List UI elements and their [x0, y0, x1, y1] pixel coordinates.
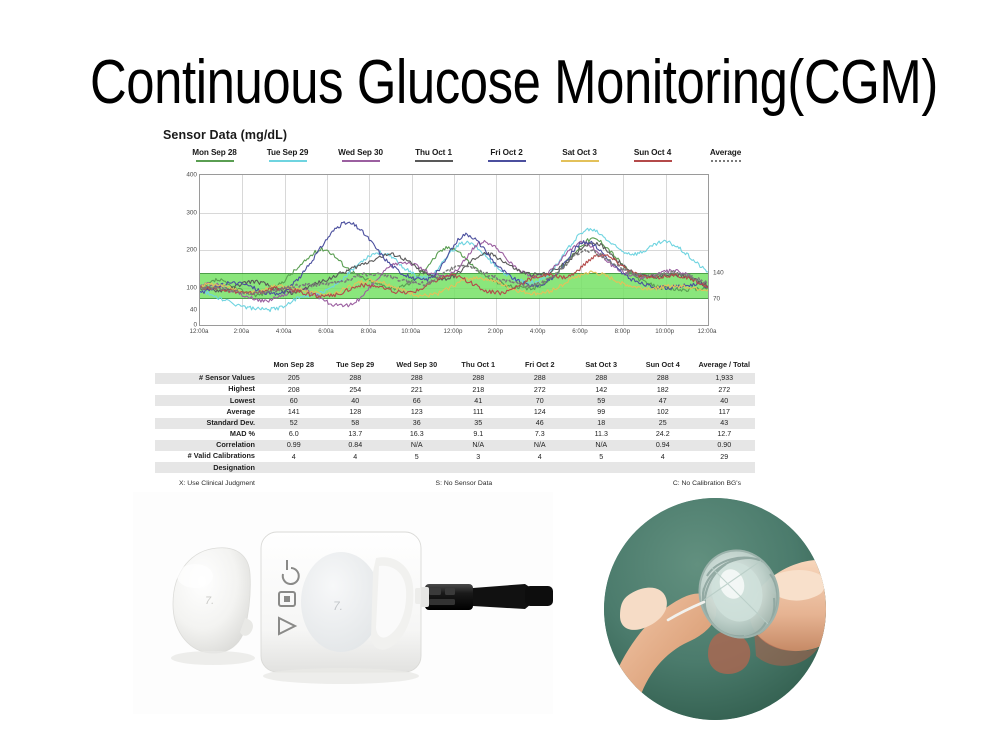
- stats-cell: 288: [386, 373, 448, 384]
- table-row: Standard Dev.5258363546182543: [155, 418, 755, 429]
- stats-cell: 59: [571, 395, 633, 406]
- x-axis-tick: 4:00a: [264, 328, 304, 335]
- stats-cell: 4: [509, 451, 571, 462]
- table-row: # Valid Calibrations445345429: [155, 451, 755, 462]
- stats-cell: 6.0: [263, 429, 325, 440]
- stats-column-header: Mon Sep 28: [263, 360, 325, 373]
- stats-cell: 4: [325, 451, 387, 462]
- stats-cell: [263, 462, 325, 473]
- stats-cell: N/A: [386, 440, 448, 451]
- stats-column-header: Sun Oct 4: [632, 360, 694, 373]
- stats-row-label: Correlation: [155, 440, 263, 451]
- stats-cell: 123: [386, 406, 448, 417]
- stats-cell: 12.7: [694, 429, 756, 440]
- legend-color-swatch: [415, 160, 453, 163]
- legend-item: Thu Oct 1: [404, 148, 463, 162]
- stats-cell: 272: [509, 384, 571, 395]
- stats-cell: 66: [386, 395, 448, 406]
- chart-series-line: [200, 222, 708, 296]
- legend-label: Thu Oct 1: [415, 148, 452, 157]
- stats-cell: [509, 462, 571, 473]
- legend-label: Sun Oct 4: [634, 148, 671, 157]
- stats-cell: 254: [325, 384, 387, 395]
- table-row: Average14112812311112499102117: [155, 406, 755, 417]
- stats-cell: 41: [448, 395, 510, 406]
- stats-cell: N/A: [571, 440, 633, 451]
- legend-label: Fri Oct 2: [490, 148, 522, 157]
- table-row: MAD %6.013.716.39.17.311.324.212.7: [155, 429, 755, 440]
- stats-cell: 36: [386, 418, 448, 429]
- stats-cell: 29: [694, 451, 756, 462]
- y-axis-tick: 300: [167, 209, 197, 216]
- legend-label: Wed Sep 30: [338, 148, 383, 157]
- stats-cell: 4: [263, 451, 325, 462]
- y-axis-tick: 40: [167, 307, 197, 314]
- svg-text:7.: 7.: [205, 595, 214, 607]
- y-axis-tick-right: 70: [713, 295, 743, 302]
- stats-cell: 58: [325, 418, 387, 429]
- table-row: Lowest6040664170594740: [155, 395, 755, 406]
- stats-cell: 205: [263, 373, 325, 384]
- stats-cell: [571, 462, 633, 473]
- glucose-sensor-photo: [604, 498, 826, 720]
- legend-label: Sat Oct 3: [562, 148, 597, 157]
- stats-column-header: Sat Oct 3: [571, 360, 633, 373]
- x-axis-tick: 12:00a: [687, 328, 727, 335]
- stats-cell: 7.3: [509, 429, 571, 440]
- stats-corner-cell: [155, 360, 263, 373]
- x-axis-tick: 12:00a: [179, 328, 219, 335]
- stats-cell: 128: [325, 406, 387, 417]
- stats-cell: 141: [263, 406, 325, 417]
- table-row: Designation: [155, 462, 755, 473]
- stats-cell: 111: [448, 406, 510, 417]
- footnote-no-sensor-data: S: No Sensor Data: [436, 480, 493, 487]
- stats-row-label: # Valid Calibrations: [155, 451, 263, 462]
- stats-cell: 40: [325, 395, 387, 406]
- stats-cell: 124: [509, 406, 571, 417]
- stats-row-label: Lowest: [155, 395, 263, 406]
- stats-cell: 218: [448, 384, 510, 395]
- legend-color-swatch: [342, 160, 380, 163]
- glucose-chart: 4003002001004001407012:00a2:00a4:00a6:00…: [155, 168, 755, 350]
- page-title: Continuous Glucose Monitoring(CGM): [90, 52, 910, 114]
- stats-cell: 5: [386, 451, 448, 462]
- stats-column-header: Tue Sep 29: [325, 360, 387, 373]
- legend-item: Fri Oct 2: [477, 148, 536, 162]
- x-axis-tick: 10:00a: [391, 328, 431, 335]
- stats-cell: 35: [448, 418, 510, 429]
- legend-item: Mon Sep 28: [185, 148, 244, 162]
- stats-cell: [325, 462, 387, 473]
- footnote-clinical-judgment: X: Use Clinical Judgment: [179, 480, 255, 487]
- report-heading: Sensor Data (mg/dL): [163, 128, 755, 142]
- stats-cell: [694, 462, 756, 473]
- legend-item: Sat Oct 3: [550, 148, 609, 162]
- sensor-in-fingers-illustration: [604, 498, 826, 720]
- stats-cell: 288: [448, 373, 510, 384]
- stats-cell: 288: [632, 373, 694, 384]
- stats-cell: 24.2: [632, 429, 694, 440]
- y-axis-tick: 100: [167, 284, 197, 291]
- x-axis-tick: 2:00a: [221, 328, 261, 335]
- stats-cell: 52: [263, 418, 325, 429]
- stats-cell: 70: [509, 395, 571, 406]
- stats-cell: N/A: [448, 440, 510, 451]
- stats-cell: 0.94: [632, 440, 694, 451]
- legend-color-swatch: [269, 160, 307, 163]
- stats-cell: 60: [263, 395, 325, 406]
- stats-cell: 13.7: [325, 429, 387, 440]
- stats-cell: [632, 462, 694, 473]
- stats-cell: 43: [694, 418, 756, 429]
- table-row: # Sensor Values2052882882882882882881,93…: [155, 373, 755, 384]
- stats-cell: 272: [694, 384, 756, 395]
- stats-cell: 0.84: [325, 440, 387, 451]
- y-axis-tick-right: 140: [713, 269, 743, 276]
- stats-cell: 4: [632, 451, 694, 462]
- stats-row-label: Highest: [155, 384, 263, 395]
- stats-table-head: Mon Sep 28Tue Sep 29Wed Sep 30Thu Oct 1F…: [155, 360, 755, 373]
- stats-cell: 47: [632, 395, 694, 406]
- stats-column-header: Thu Oct 1: [448, 360, 510, 373]
- cgm-report-panel: Sensor Data (mg/dL) Mon Sep 28Tue Sep 29…: [155, 124, 755, 472]
- stats-cell: 117: [694, 406, 756, 417]
- footnote-no-calibration: C: No Calibration BG's: [673, 480, 741, 487]
- legend-item: Tue Sep 29: [258, 148, 317, 162]
- legend-label: Average: [710, 148, 741, 157]
- legend-item: Sun Oct 4: [623, 148, 682, 162]
- legend-label: Tue Sep 29: [267, 148, 309, 157]
- svg-text:7.: 7.: [333, 599, 343, 613]
- y-axis-tick: 400: [167, 172, 197, 179]
- stats-row-label: # Sensor Values: [155, 373, 263, 384]
- cgm-device-photo: 7. 7.: [133, 492, 553, 714]
- stats-cell: 16.3: [386, 429, 448, 440]
- cgm-device-illustration: 7. 7.: [133, 492, 553, 714]
- stats-column-header: Fri Oct 2: [509, 360, 571, 373]
- x-axis-tick: 10:00p: [645, 328, 685, 335]
- stats-cell: 102: [632, 406, 694, 417]
- x-axis-tick: 6:00p: [560, 328, 600, 335]
- legend-label: Mon Sep 28: [192, 148, 237, 157]
- chart-footnotes: X: Use Clinical Judgment S: No Sensor Da…: [179, 480, 741, 487]
- stats-cell: [448, 462, 510, 473]
- chart-legend: Mon Sep 28Tue Sep 29Wed Sep 30Thu Oct 1F…: [185, 148, 755, 162]
- stats-cell: 3: [448, 451, 510, 462]
- legend-color-swatch: [711, 160, 741, 162]
- legend-item: Wed Sep 30: [331, 148, 390, 162]
- stats-row-label: Average: [155, 406, 263, 417]
- stats-cell: 221: [386, 384, 448, 395]
- charging-cradle: 7.: [261, 532, 429, 672]
- legend-color-swatch: [634, 160, 672, 163]
- y-axis-tick: 200: [167, 247, 197, 254]
- stats-column-header: Wed Sep 30: [386, 360, 448, 373]
- table-row: Highest208254221218272142182272: [155, 384, 755, 395]
- stats-cell: 46: [509, 418, 571, 429]
- x-axis-tick: 8:00a: [348, 328, 388, 335]
- stats-row-label: MAD %: [155, 429, 263, 440]
- stats-cell: 288: [571, 373, 633, 384]
- stats-row-label: Standard Dev.: [155, 418, 263, 429]
- stats-cell: 5: [571, 451, 633, 462]
- stats-cell: 208: [263, 384, 325, 395]
- x-axis-tick: 2:00p: [475, 328, 515, 335]
- table-row: Correlation0.990.84N/AN/AN/AN/A0.940.90: [155, 440, 755, 451]
- stats-cell: 11.3: [571, 429, 633, 440]
- x-axis-tick: 6:00a: [306, 328, 346, 335]
- x-axis-tick: 12:00p: [433, 328, 473, 335]
- x-axis-tick: 8:00p: [602, 328, 642, 335]
- stats-cell: 25: [632, 418, 694, 429]
- legend-color-swatch: [561, 160, 599, 163]
- stats-cell: 9.1: [448, 429, 510, 440]
- legend-item: Average: [696, 148, 755, 162]
- sensor-stats-table: Mon Sep 28Tue Sep 29Wed Sep 30Thu Oct 1F…: [155, 360, 755, 473]
- stats-column-header: Average / Total: [694, 360, 756, 373]
- stats-cell: 0.90: [694, 440, 756, 451]
- stats-cell: 0.99: [263, 440, 325, 451]
- stats-cell: 288: [325, 373, 387, 384]
- x-axis-tick: 4:00p: [518, 328, 558, 335]
- stats-cell: 142: [571, 384, 633, 395]
- stats-cell: 18: [571, 418, 633, 429]
- legend-color-swatch: [196, 160, 234, 163]
- stats-table-body: # Sensor Values2052882882882882882881,93…: [155, 373, 755, 474]
- stats-cell: N/A: [509, 440, 571, 451]
- stats-cell: 1,933: [694, 373, 756, 384]
- stats-cell: [386, 462, 448, 473]
- chart-plot-area: [199, 174, 709, 326]
- stats-header-row: Mon Sep 28Tue Sep 29Wed Sep 30Thu Oct 1F…: [155, 360, 755, 373]
- stats-cell: 182: [632, 384, 694, 395]
- stats-cell: 99: [571, 406, 633, 417]
- legend-color-swatch: [488, 160, 526, 163]
- stats-row-label: Designation: [155, 462, 263, 473]
- chart-series-svg: [200, 175, 708, 325]
- stats-cell: 288: [509, 373, 571, 384]
- stats-cell: 40: [694, 395, 756, 406]
